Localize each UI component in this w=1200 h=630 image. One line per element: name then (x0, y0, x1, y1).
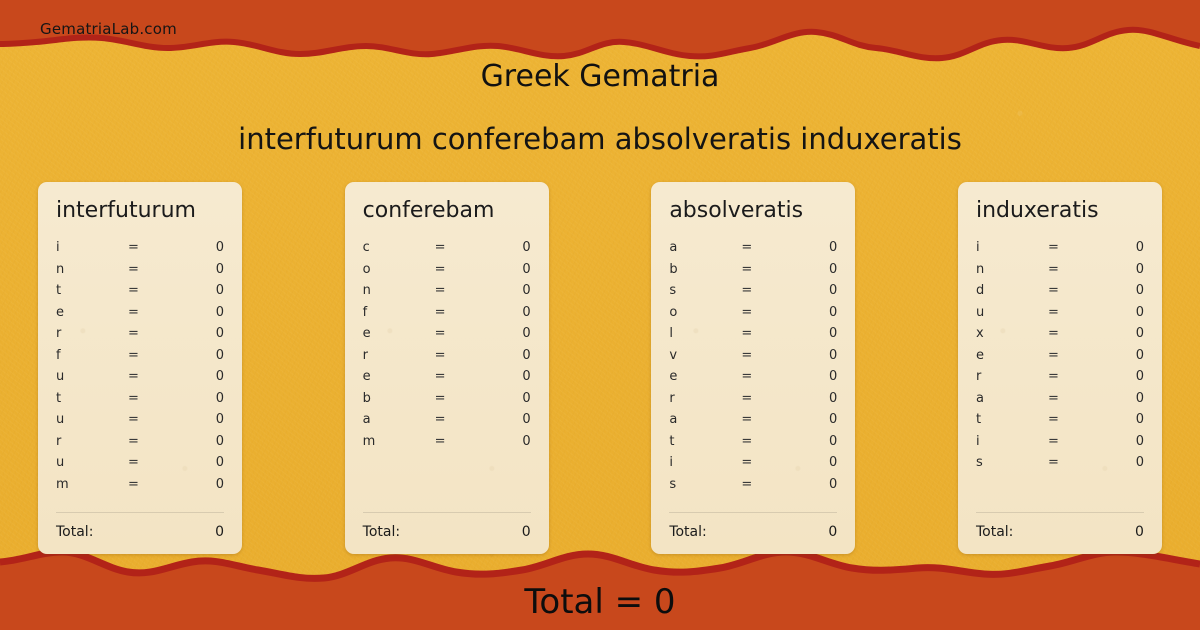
top-band-fill (0, 0, 1200, 58)
letter-value: 0 (1106, 369, 1144, 384)
letter-value: 0 (186, 283, 224, 298)
equals-sign: = (741, 262, 799, 277)
equals-sign: = (128, 455, 186, 470)
letter-row: u=0 (56, 452, 224, 474)
letter-value: 0 (186, 412, 224, 427)
card-total-row: Total: 0 (56, 513, 224, 540)
equals-sign: = (435, 240, 493, 255)
letter-value: 0 (799, 240, 837, 255)
top-band-edge (0, 30, 1200, 58)
letter-value: 0 (1106, 391, 1144, 406)
letter-row: v=0 (669, 345, 837, 367)
letter-value: 0 (186, 326, 224, 341)
letter: v (669, 348, 741, 363)
letter: x (976, 326, 1048, 341)
letter-value: 0 (186, 262, 224, 277)
equals-sign: = (435, 348, 493, 363)
letter-row: m=0 (56, 474, 224, 496)
letter-value: 0 (493, 305, 531, 320)
equals-sign: = (435, 305, 493, 320)
equals-sign: = (1048, 412, 1106, 427)
letter-value: 0 (1106, 240, 1144, 255)
equals-sign: = (741, 348, 799, 363)
letter-row: i=0 (976, 237, 1144, 259)
equals-sign: = (1048, 391, 1106, 406)
letter: u (56, 369, 128, 384)
equals-sign: = (128, 348, 186, 363)
letter: c (363, 240, 435, 255)
letter-row: o=0 (669, 302, 837, 324)
letter-row: a=0 (976, 388, 1144, 410)
letter: r (56, 326, 128, 341)
letter-row: a=0 (363, 409, 531, 431)
letter-row: r=0 (976, 366, 1144, 388)
letter: s (669, 283, 741, 298)
card-total-row: Total: 0 (363, 513, 531, 540)
word-card-title: absolveratis (669, 198, 837, 223)
letter-value: 0 (799, 412, 837, 427)
letter-value: 0 (1106, 262, 1144, 277)
letter-row: u=0 (56, 366, 224, 388)
letter-row: s=0 (976, 452, 1144, 474)
card-total-label: Total: (363, 524, 522, 540)
gematria-poster: GematriaLab.com Greek Gematria interfutu… (0, 0, 1200, 630)
letter-value: 0 (186, 391, 224, 406)
letter-value: 0 (186, 369, 224, 384)
letter-row: t=0 (56, 280, 224, 302)
card-total-row: Total: 0 (976, 513, 1144, 540)
letter-value: 0 (799, 305, 837, 320)
letter: e (363, 369, 435, 384)
equals-sign: = (128, 412, 186, 427)
letter-row: c=0 (363, 237, 531, 259)
letter-value: 0 (493, 391, 531, 406)
letter-value: 0 (1106, 326, 1144, 341)
letter-value: 0 (1106, 455, 1144, 470)
letter-row: r=0 (363, 345, 531, 367)
equals-sign: = (128, 283, 186, 298)
letter: r (669, 391, 741, 406)
letter-value: 0 (186, 240, 224, 255)
letter: b (669, 262, 741, 277)
letter-value: 0 (493, 348, 531, 363)
equals-sign: = (435, 262, 493, 277)
letter-row: i=0 (976, 431, 1144, 453)
letter: a (363, 412, 435, 427)
letter: f (363, 305, 435, 320)
letter-row: e=0 (976, 345, 1144, 367)
letter: s (976, 455, 1048, 470)
letter-value: 0 (1106, 348, 1144, 363)
letter-row: n=0 (976, 259, 1144, 281)
letter: n (976, 262, 1048, 277)
letter: n (363, 283, 435, 298)
letter: s (669, 477, 741, 492)
card-total-value: 0 (828, 524, 837, 540)
letter: a (669, 412, 741, 427)
word-cards-container: interfuturum i=0 n=0 t=0 e=0 r=0 f=0 u=0… (38, 182, 1162, 554)
letter: b (363, 391, 435, 406)
letter-value: 0 (186, 348, 224, 363)
word-card-title: induxeratis (976, 198, 1144, 223)
letter-row: b=0 (669, 259, 837, 281)
letter-value: 0 (799, 348, 837, 363)
letter-row: i=0 (669, 452, 837, 474)
equals-sign: = (741, 477, 799, 492)
letter-row: m=0 (363, 431, 531, 453)
letter-value: 0 (493, 412, 531, 427)
letter: e (976, 348, 1048, 363)
equals-sign: = (128, 240, 186, 255)
letter-value: 0 (799, 262, 837, 277)
letter-value: 0 (799, 283, 837, 298)
letter-value: 0 (493, 326, 531, 341)
letter-row: u=0 (976, 302, 1144, 324)
equals-sign: = (741, 412, 799, 427)
letter-value: 0 (799, 369, 837, 384)
site-watermark: GematriaLab.com (40, 20, 177, 38)
equals-sign: = (128, 477, 186, 492)
word-card: interfuturum i=0 n=0 t=0 e=0 r=0 f=0 u=0… (38, 182, 242, 554)
letter-value: 0 (186, 434, 224, 449)
card-total-label: Total: (976, 524, 1135, 540)
letter: a (669, 240, 741, 255)
letter-row: i=0 (56, 237, 224, 259)
equals-sign: = (435, 326, 493, 341)
letter-value: 0 (799, 326, 837, 341)
letter: n (56, 262, 128, 277)
letter-rows: c=0 o=0 n=0 f=0 e=0 r=0 e=0 b=0 a=0 m=0 (363, 237, 531, 503)
equals-sign: = (1048, 240, 1106, 255)
letter: f (56, 348, 128, 363)
letter: m (363, 434, 435, 449)
letter: i (976, 434, 1048, 449)
card-total-value: 0 (215, 524, 224, 540)
letter-value: 0 (186, 305, 224, 320)
letter-value: 0 (1106, 412, 1144, 427)
letter-row: r=0 (56, 431, 224, 453)
letter-value: 0 (1106, 283, 1144, 298)
equals-sign: = (741, 305, 799, 320)
letter: l (669, 326, 741, 341)
equals-sign: = (741, 369, 799, 384)
letter-value: 0 (493, 262, 531, 277)
letter-value: 0 (799, 434, 837, 449)
letter: t (56, 283, 128, 298)
equals-sign: = (435, 434, 493, 449)
letter: i (56, 240, 128, 255)
letter-value: 0 (1106, 434, 1144, 449)
letter: t (669, 434, 741, 449)
letter: o (669, 305, 741, 320)
letter-row: n=0 (56, 259, 224, 281)
letter: e (363, 326, 435, 341)
letter-value: 0 (1106, 305, 1144, 320)
letter: e (669, 369, 741, 384)
equals-sign: = (435, 391, 493, 406)
equals-sign: = (741, 391, 799, 406)
letter: r (56, 434, 128, 449)
letter: t (56, 391, 128, 406)
letter-value: 0 (799, 477, 837, 492)
letter-value: 0 (493, 240, 531, 255)
card-total-value: 0 (1135, 524, 1144, 540)
page-subtitle: interfuturum conferebam absolveratis ind… (0, 122, 1200, 156)
letter-value: 0 (186, 455, 224, 470)
equals-sign: = (1048, 305, 1106, 320)
letter-row: e=0 (363, 366, 531, 388)
letter-row: n=0 (363, 280, 531, 302)
letter-value: 0 (493, 283, 531, 298)
letter: r (976, 369, 1048, 384)
letter: o (363, 262, 435, 277)
equals-sign: = (1048, 455, 1106, 470)
letter: u (56, 412, 128, 427)
letter-row: e=0 (363, 323, 531, 345)
equals-sign: = (741, 283, 799, 298)
letter-value: 0 (186, 477, 224, 492)
letter-value: 0 (493, 434, 531, 449)
letter-value: 0 (799, 455, 837, 470)
card-total-label: Total: (669, 524, 828, 540)
letter-row: r=0 (56, 323, 224, 345)
equals-sign: = (741, 240, 799, 255)
letter-row: e=0 (56, 302, 224, 324)
equals-sign: = (128, 434, 186, 449)
equals-sign: = (1048, 326, 1106, 341)
equals-sign: = (435, 283, 493, 298)
word-card: absolveratis a=0 b=0 s=0 o=0 l=0 v=0 e=0… (651, 182, 855, 554)
letter-row: l=0 (669, 323, 837, 345)
letter-rows: a=0 b=0 s=0 o=0 l=0 v=0 e=0 r=0 a=0 t=0 … (669, 237, 837, 503)
letter: d (976, 283, 1048, 298)
equals-sign: = (435, 412, 493, 427)
letter-row: x=0 (976, 323, 1144, 345)
bottom-band-edge (0, 552, 1200, 578)
card-total-value: 0 (522, 524, 531, 540)
word-card: conferebam c=0 o=0 n=0 f=0 e=0 r=0 e=0 b… (345, 182, 549, 554)
equals-sign: = (1048, 262, 1106, 277)
page-title: Greek Gematria (0, 59, 1200, 94)
letter-row: t=0 (669, 431, 837, 453)
letter-row: e=0 (669, 366, 837, 388)
equals-sign: = (128, 326, 186, 341)
letter-row: o=0 (363, 259, 531, 281)
letter-value: 0 (493, 369, 531, 384)
letter: i (669, 455, 741, 470)
word-card-title: conferebam (363, 198, 531, 223)
equals-sign: = (1048, 369, 1106, 384)
letter-row: t=0 (976, 409, 1144, 431)
letter-row: b=0 (363, 388, 531, 410)
letter: t (976, 412, 1048, 427)
letter-row: s=0 (669, 474, 837, 496)
letter: a (976, 391, 1048, 406)
equals-sign: = (128, 262, 186, 277)
word-card-title: interfuturum (56, 198, 224, 223)
equals-sign: = (741, 455, 799, 470)
letter-row: s=0 (669, 280, 837, 302)
letter-row: f=0 (56, 345, 224, 367)
equals-sign: = (128, 391, 186, 406)
letter-value: 0 (799, 391, 837, 406)
grand-total: Total = 0 (0, 582, 1200, 622)
letter-rows: i=0 n=0 d=0 u=0 x=0 e=0 r=0 a=0 t=0 i=0 … (976, 237, 1144, 503)
card-total-row: Total: 0 (669, 513, 837, 540)
equals-sign: = (741, 326, 799, 341)
letter-row: t=0 (56, 388, 224, 410)
letter-row: a=0 (669, 409, 837, 431)
letter-rows: i=0 n=0 t=0 e=0 r=0 f=0 u=0 t=0 u=0 r=0 … (56, 237, 224, 503)
word-card: induxeratis i=0 n=0 d=0 u=0 x=0 e=0 r=0 … (958, 182, 1162, 554)
letter: u (976, 305, 1048, 320)
letter: r (363, 348, 435, 363)
letter: u (56, 455, 128, 470)
equals-sign: = (128, 305, 186, 320)
equals-sign: = (1048, 283, 1106, 298)
equals-sign: = (1048, 434, 1106, 449)
letter-row: r=0 (669, 388, 837, 410)
equals-sign: = (128, 369, 186, 384)
letter-row: u=0 (56, 409, 224, 431)
card-total-label: Total: (56, 524, 215, 540)
letter-row: d=0 (976, 280, 1144, 302)
equals-sign: = (741, 434, 799, 449)
letter: i (976, 240, 1048, 255)
letter: m (56, 477, 128, 492)
letter-row: a=0 (669, 237, 837, 259)
letter-row: f=0 (363, 302, 531, 324)
letter: e (56, 305, 128, 320)
equals-sign: = (435, 369, 493, 384)
equals-sign: = (1048, 348, 1106, 363)
